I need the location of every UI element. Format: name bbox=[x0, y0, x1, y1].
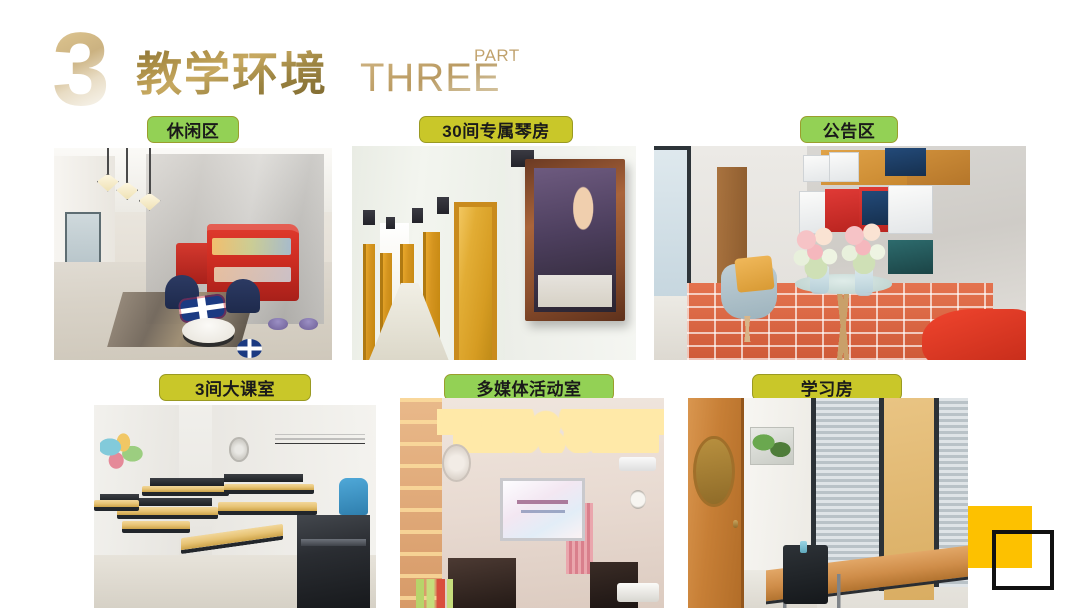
slide-root: 3 教学环境 THREE PART 休闲区 30间专属琴房 公告区 bbox=[0, 0, 1080, 608]
section-number: 3 bbox=[52, 20, 108, 120]
lounge-area-photo bbox=[54, 148, 332, 360]
label-badge-study-room: 学习房 bbox=[752, 374, 902, 401]
label-badge-notice-area: 公告区 bbox=[800, 116, 898, 143]
label-badge-text: 3间大课室 bbox=[195, 375, 275, 400]
notice-board-lobby-photo bbox=[654, 146, 1026, 360]
label-badge-lounge: 休闲区 bbox=[147, 116, 239, 143]
large-classroom-photo bbox=[94, 405, 376, 608]
label-badge-text: 学习房 bbox=[801, 375, 854, 400]
decor-outline-square bbox=[992, 530, 1054, 590]
label-badge-large-classroom: 3间大课室 bbox=[159, 374, 311, 401]
page-title-superscript: PART bbox=[474, 46, 520, 65]
label-badge-text: 30间专属琴房 bbox=[442, 117, 549, 142]
label-badge-text: 休闲区 bbox=[167, 117, 220, 142]
label-badge-multimedia-room: 多媒体活动室 bbox=[444, 374, 614, 401]
study-room-photo bbox=[688, 398, 968, 608]
piano-rooms-corridor-photo bbox=[352, 146, 636, 360]
multimedia-room-photo bbox=[400, 398, 664, 608]
label-badge-text: 多媒体活动室 bbox=[477, 375, 582, 400]
slide-header: 3 教学环境 THREE PART bbox=[0, 0, 1080, 112]
page-title-cn: 教学环境 bbox=[136, 48, 328, 100]
label-badge-piano-rooms: 30间专属琴房 bbox=[419, 116, 573, 143]
label-badge-text: 公告区 bbox=[823, 117, 876, 142]
